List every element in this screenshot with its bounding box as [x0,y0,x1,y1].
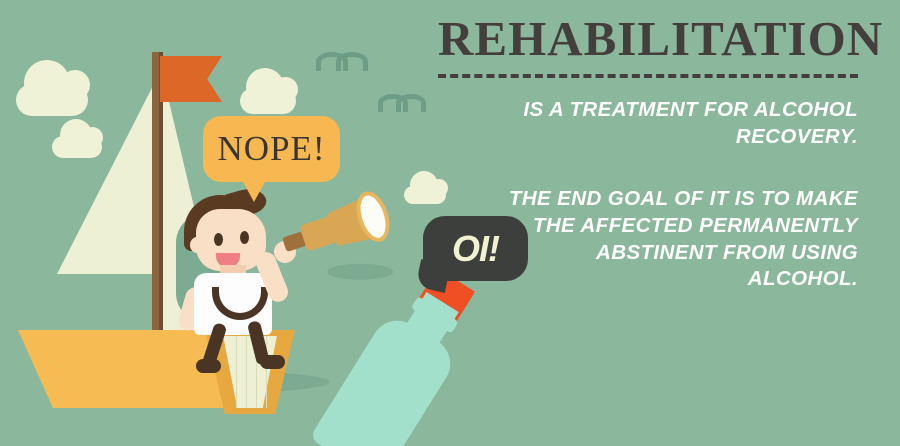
nope-bubble-text: NOPE! [203,116,340,182]
page-title: REHABILITATION [438,14,858,78]
cloud-icon [16,84,88,116]
bottle-shadow [327,264,393,280]
text-block: REHABILITATION IS A TREATMENT FOR ALCOHO… [438,14,858,293]
paragraph-one: IS A TREATMENT FOR ALCOHOL RECOVERY. [438,97,858,150]
eye-right [240,231,249,244]
cloud-icon [52,136,102,158]
shoe-right [260,355,285,369]
telescope-icon [277,188,394,270]
paragraph-two: THE END GOAL OF IT IS TO MAKE THE AFFECT… [438,186,858,293]
cloud-icon [240,88,296,114]
sailor-character [170,195,350,350]
ear [190,237,204,253]
poster-canvas: NOPE! OI! REHABILITATION IS A TREATMENT … [0,0,900,446]
flag-icon [160,56,222,102]
nope-bubble-tail [242,180,266,202]
shoe-left [196,359,221,373]
eye-left [214,233,223,246]
